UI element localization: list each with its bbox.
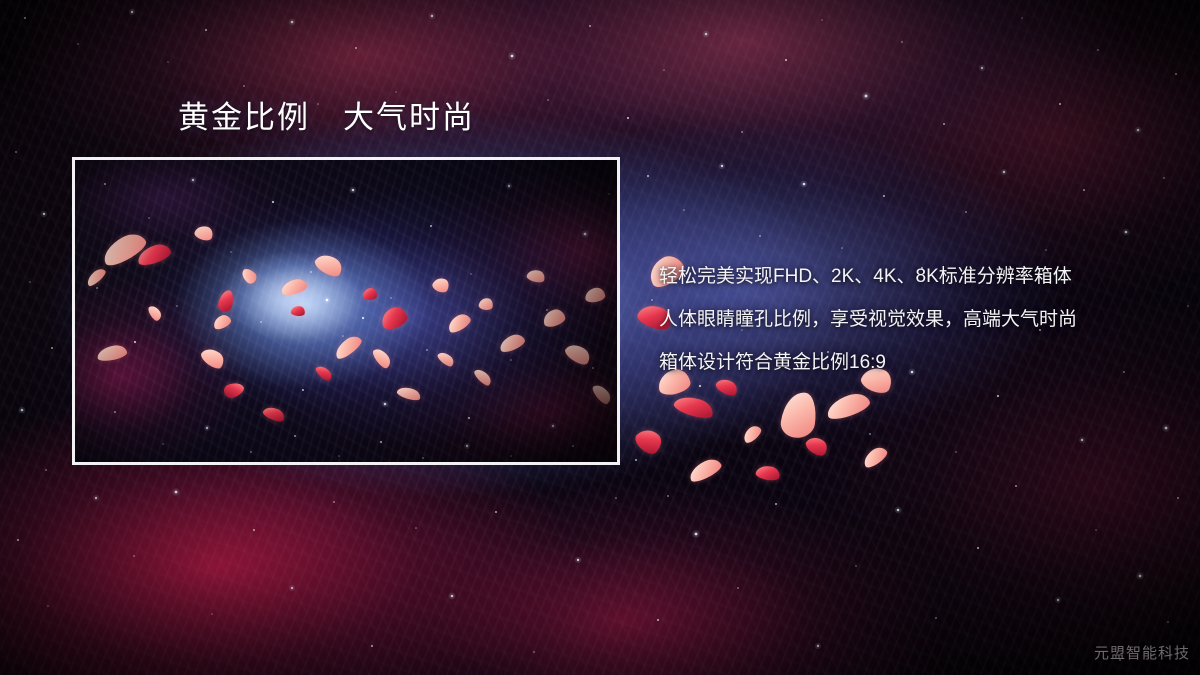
rose-petal	[755, 464, 781, 483]
frame-panel-content	[75, 160, 617, 462]
body-line-1: 轻松完美实现FHD、2K、4K、8K标准分辨率箱体	[659, 255, 1179, 298]
slide-canvas: 黄金比例 大气时尚 轻松完美实现FHD、2K、4K、8K标准分辨率箱体 人体眼睛…	[0, 0, 1200, 675]
watermark-label: 元盟智能科技	[1094, 642, 1190, 663]
body-text-block: 轻松完美实现FHD、2K、4K、8K标准分辨率箱体 人体眼睛瞳孔比例，享受视觉效…	[659, 255, 1179, 384]
rose-petal	[740, 423, 763, 445]
rose-petal	[672, 392, 716, 421]
body-line-3: 箱体设计符合黄金比例16:9	[659, 341, 1179, 384]
rose-petal	[803, 433, 830, 459]
rose-petal	[824, 390, 872, 423]
panel-vignette	[75, 160, 617, 462]
image-frame-panel[interactable]	[72, 157, 620, 465]
rose-petal	[860, 444, 889, 470]
body-line-2: 人体眼睛瞳孔比例，享受视觉效果，高端大气时尚	[659, 298, 1179, 341]
rose-petal	[686, 455, 724, 484]
page-title: 黄金比例 大气时尚	[178, 101, 475, 135]
rose-petal	[779, 390, 819, 440]
rose-petal	[632, 424, 666, 458]
